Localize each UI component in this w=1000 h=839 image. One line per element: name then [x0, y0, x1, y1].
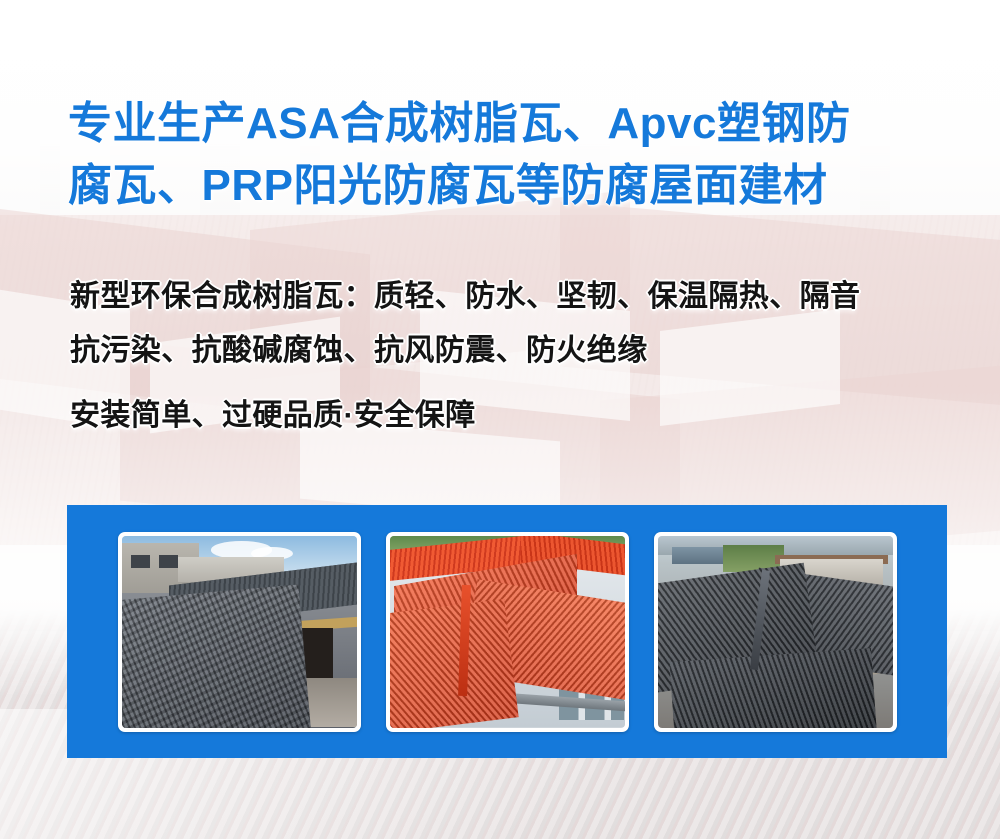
photo-red-resin-tile-roof-villa: [390, 536, 625, 728]
photo-roof-lower: [669, 648, 876, 728]
feature-line-2: 抗污染、抗酸碱腐蚀、抗风防震、防火绝缘: [70, 324, 970, 378]
photo-card-black-roof[interactable]: [654, 532, 897, 732]
feature-copy: 新型环保合成树脂瓦：质轻、防水、坚韧、保温隔热、隔音 抗污染、抗酸碱腐蚀、抗风防…: [70, 270, 970, 443]
headline-line-2: 腐瓦、PRP阳光防腐瓦等防腐屋面建材: [68, 155, 958, 217]
headline: 专业生产ASA合成树脂瓦、Apvc塑钢防 腐瓦、PRP阳光防腐瓦等防腐屋面建材: [68, 93, 958, 217]
photo-card-red-roof[interactable]: [386, 532, 629, 732]
photo-gallery-panel: [67, 505, 947, 758]
feature-line-1: 新型环保合成树脂瓦：质轻、防水、坚韧、保温隔热、隔音: [70, 270, 970, 324]
photo-roof-main: [122, 585, 311, 728]
photo-black-resin-tile-roof-village: [658, 536, 893, 728]
photo-roof-main-left: [390, 599, 519, 727]
headline-line-1: 专业生产ASA合成树脂瓦、Apvc塑钢防: [68, 93, 958, 155]
photo-window: [131, 555, 150, 568]
photo-card-grey-roof[interactable]: [118, 532, 361, 732]
product-banner: 专业生产ASA合成树脂瓦、Apvc塑钢防 腐瓦、PRP阳光防腐瓦等防腐屋面建材 …: [0, 0, 1000, 839]
feature-line-3: 安装简单、过硬品质·安全保障: [70, 389, 970, 443]
photo-window: [159, 555, 178, 568]
photo-grey-resin-tile-roof-courtyard: [122, 536, 357, 728]
